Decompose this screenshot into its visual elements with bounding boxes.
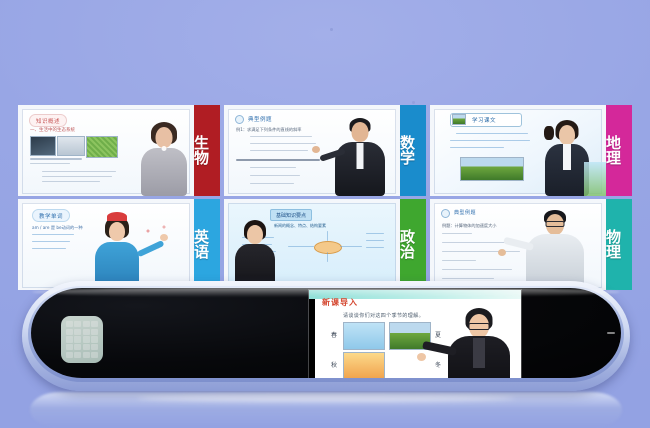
subject-strip-physics[interactable]: 物理: [606, 199, 632, 290]
english-scene: 教学单词 am / are 是 be动词的一种: [18, 199, 194, 290]
geography-scene: 学习课文: [430, 105, 606, 196]
subject-strip-math[interactable]: 数学: [400, 105, 426, 196]
subject-cell-english[interactable]: 教学单词 am / are 是 be动词的一种: [18, 199, 220, 290]
geography-image-field: [460, 157, 524, 181]
video-left-letterbox: [309, 290, 315, 378]
glasses-icon: [469, 323, 490, 330]
physics-scene: 典型例题 例题：计算物体的加速度大小: [430, 199, 606, 290]
background-speck: [412, 101, 415, 104]
subject-strip-politics[interactable]: 政治: [400, 199, 426, 290]
geography-slide-title: 学习课文: [470, 116, 496, 124]
subject-strip-geography[interactable]: 地理: [606, 105, 632, 196]
video-subtitle: 请谈谈你们对这四个季节的理解。: [343, 312, 424, 319]
subject-label-english-1: 英语: [194, 230, 220, 260]
biology-teacher: [138, 122, 190, 196]
scanning-pen-device[interactable]: 新课导入 请谈谈你们对这四个季节的理解。 春 夏 秋 冬: [22, 281, 630, 391]
subject-strip-biology[interactable]: 生物: [194, 105, 220, 196]
english-teacher: [88, 214, 146, 290]
season-label-winter: 冬: [435, 360, 441, 369]
season-thumb-autumn: [343, 352, 385, 378]
math-teacher: [332, 118, 388, 196]
physics-slide-bullet: 例题：计算物体的加速度大小: [442, 223, 496, 229]
biology-slide-title: 知识概述: [29, 114, 67, 127]
subject-cell-politics[interactable]: 基础知识要点 新闻的概念、特点、结构要素: [224, 199, 426, 290]
subject-label-physics-1: 物理: [606, 230, 632, 260]
subject-cell-geography[interactable]: 学习课文 地理: [430, 105, 632, 196]
biology-image-cells: [86, 136, 118, 158]
subject-label-math-1: 数学: [400, 136, 426, 166]
video-presenter: [443, 308, 515, 378]
magnifier-icon: [441, 209, 450, 218]
device-reflection: [30, 392, 622, 428]
geography-title-thumb: [452, 114, 466, 125]
english-slide-title: 教学单词: [32, 209, 70, 222]
subject-strip-english[interactable]: 英语: [194, 199, 220, 290]
subject-grid: 知识概述 一、生活中的生态系统: [18, 105, 632, 290]
device-screen[interactable]: 新课导入 请谈谈你们对这四个季节的理解。 春 夏 秋 冬: [31, 288, 621, 378]
geography-backdrop: [584, 162, 606, 196]
glasses-icon: [546, 221, 565, 227]
english-slide-bullet: am / are 是 be动词的一种: [32, 225, 83, 231]
magnifier-icon: [235, 115, 244, 124]
lesson-video-pane[interactable]: 新课导入 请谈谈你们对这四个季节的理解。 春 夏 秋 冬: [309, 290, 521, 378]
season-label-summer: 夏: [435, 330, 441, 339]
biology-image-microscope: [30, 136, 56, 156]
subject-label-politics-1: 政治: [400, 230, 426, 260]
math-slide-title: 典型例题: [246, 115, 272, 123]
keypad-pad[interactable]: [61, 316, 103, 363]
subject-label-geography-1: 地理: [606, 136, 632, 166]
biology-image-diagram: [57, 136, 85, 156]
biology-scene: 知识概述 一、生活中的生态系统: [18, 105, 194, 196]
politics-scene: 基础知识要点 新闻的概念、特点、结构要素: [224, 199, 400, 290]
season-thumb-spring: [343, 322, 385, 350]
subject-cell-math[interactable]: 典型例题 例1：求满足下列条件的直线的斜率: [224, 105, 426, 196]
physics-teacher: [522, 210, 588, 290]
biology-slide-bullet: 一、生活中的生态系统: [30, 127, 75, 133]
season-label-spring: 春: [331, 330, 337, 339]
math-scene: 典型例题 例1：求满足下列条件的直线的斜率: [224, 105, 400, 196]
keypad-grid: [66, 321, 98, 358]
subject-cell-physics[interactable]: 典型例题 例题：计算物体的加速度大小: [430, 199, 632, 290]
device-speaker-slot: [607, 332, 615, 334]
politics-slide-bullet: 新闻的概念、特点、结构要素: [274, 223, 326, 229]
subject-cell-biology[interactable]: 知识概述 一、生活中的生态系统: [18, 105, 220, 196]
math-slide-bullet: 例1：求满足下列条件的直线的斜率: [236, 127, 301, 133]
season-label-autumn: 秋: [331, 360, 337, 369]
physics-slide-title: 典型例题: [452, 209, 476, 216]
scene-background: 知识概述 一、生活中的生态系统: [0, 0, 650, 428]
video-title: 新课导入: [322, 297, 358, 308]
politics-teacher: [232, 220, 278, 290]
background-speck: [330, 28, 333, 31]
subject-label-biology-1: 生物: [194, 136, 220, 166]
english-teacher-bow: [107, 212, 127, 221]
